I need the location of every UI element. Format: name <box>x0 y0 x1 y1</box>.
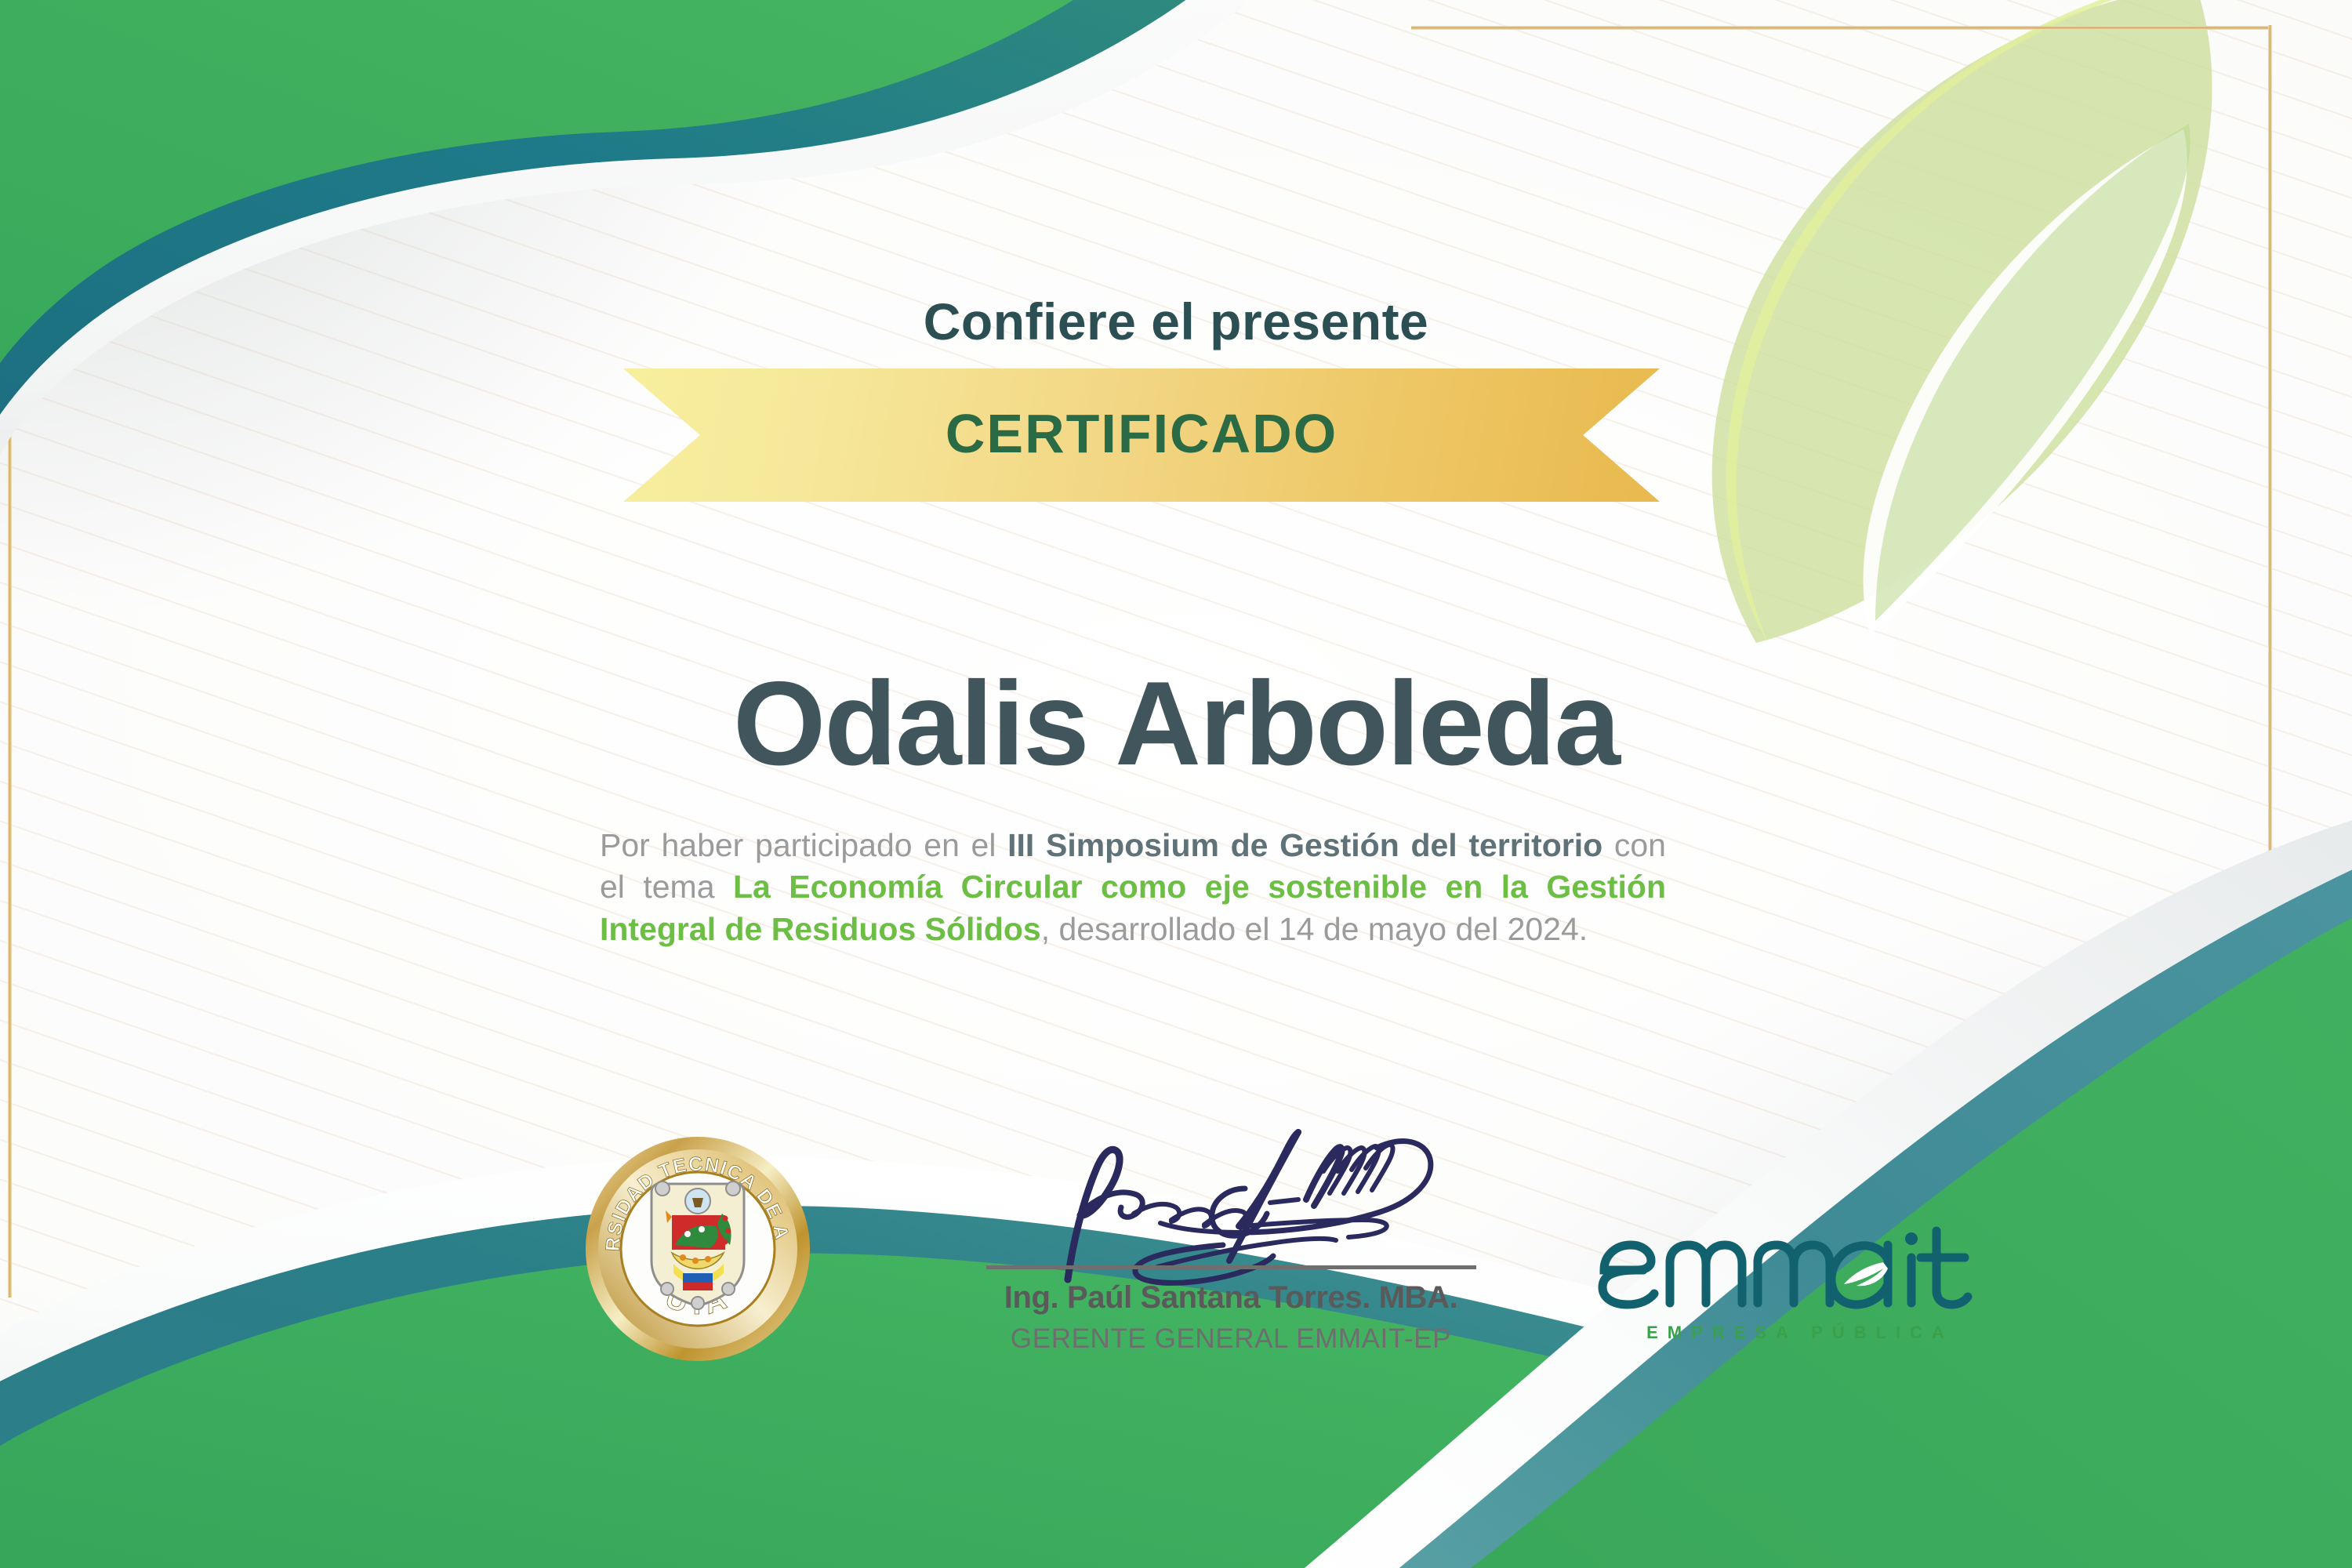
certificado-ribbon-banner: CERTIFICADO <box>623 368 1660 502</box>
certificate-body-text: Por haber participado en el III Simposiu… <box>600 825 1666 950</box>
signatory-role: GERENTE GENERAL EMMAIT-EP <box>976 1323 1486 1355</box>
uta-seal-logo: UNIVERSIDAD TECNICA DE AMBATO UTA <box>584 1135 811 1363</box>
emmait-wordmark <box>1592 1223 1999 1317</box>
ribbon-label: CERTIFICADO <box>946 402 1338 465</box>
body-event-name: III Simposium de Gestión del territorio <box>1007 827 1602 863</box>
signature-block: Ing. Paúl Santana Torres. MBA. GERENTE G… <box>976 1113 1486 1364</box>
signatory-name: Ing. Paúl Santana Torres. MBA. <box>976 1280 1486 1316</box>
signature-line <box>986 1265 1476 1269</box>
body-segment-1: Por haber participado en el <box>600 827 1007 863</box>
emmait-logo: EMPRESA PÚBLICA <box>1592 1223 1999 1343</box>
body-segment-3: , desarrollado el 14 de mayo del 2024. <box>1041 911 1588 947</box>
gold-border-top <box>1411 26 2272 30</box>
gold-border-left <box>8 404 12 1298</box>
recipient-name: Odalis Arboleda <box>0 655 2352 793</box>
certificate-page: Confiere el presente CERTIFICADO Odalis … <box>0 0 2352 1568</box>
emmait-tagline: EMPRESA PÚBLICA <box>1592 1323 1999 1343</box>
page-title: Confiere el presente <box>0 292 2352 351</box>
